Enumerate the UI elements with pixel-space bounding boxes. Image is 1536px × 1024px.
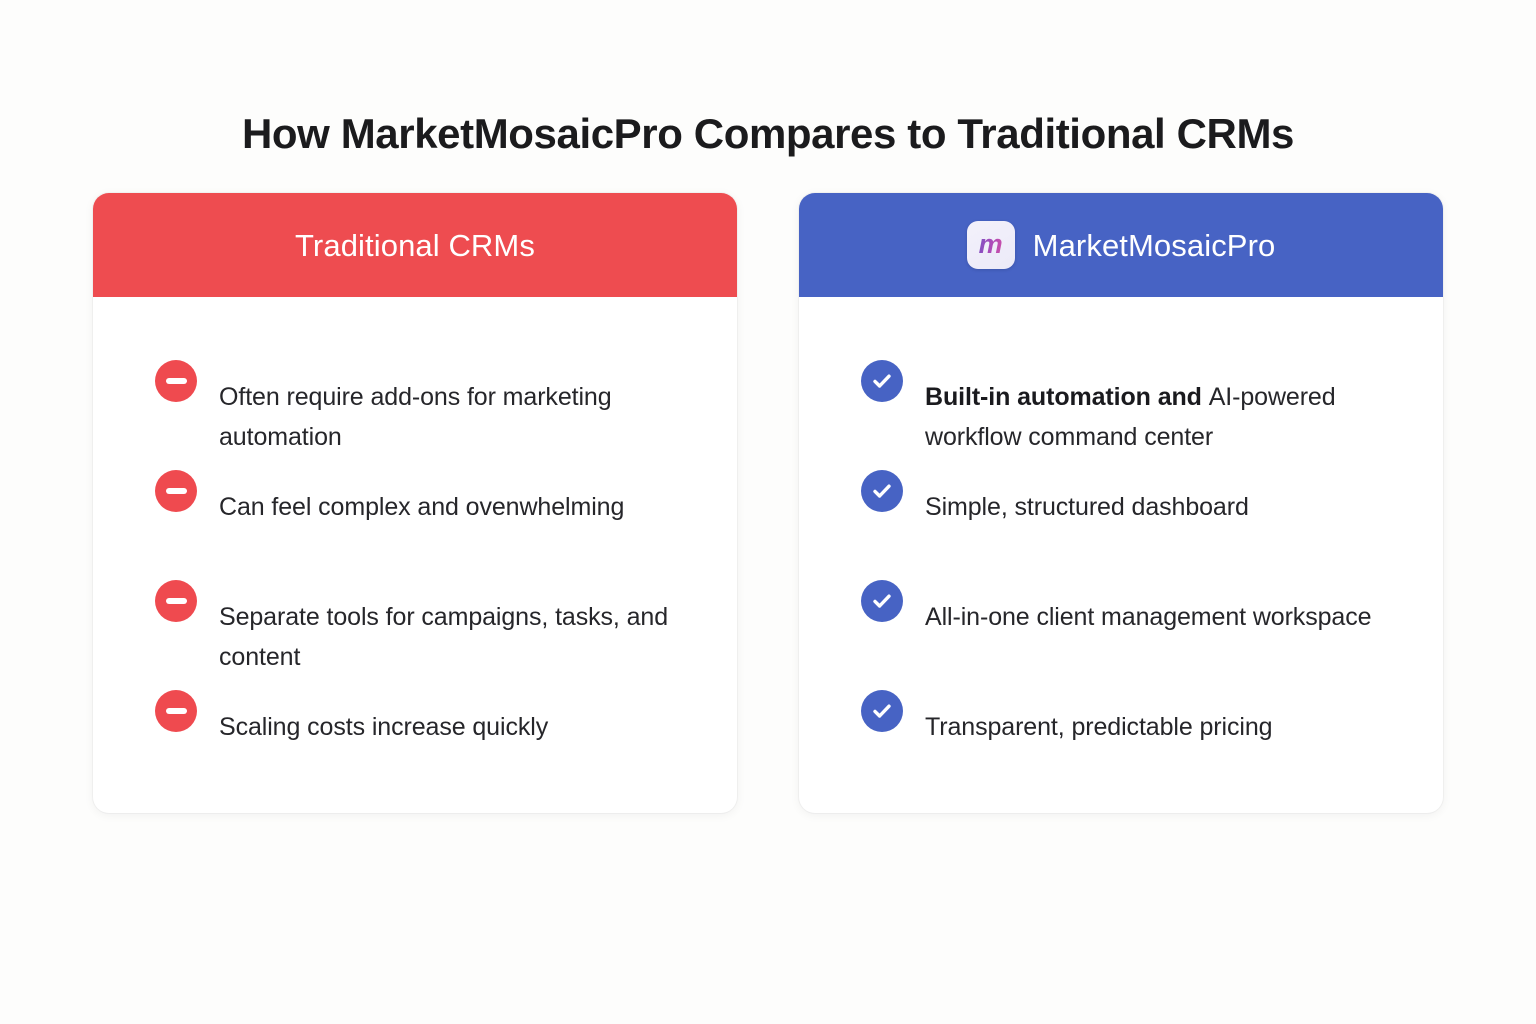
list-item-text: Separate tools for campaigns, tasks, and… bbox=[219, 603, 668, 671]
list-item-label: Often require add-ons for marketing auto… bbox=[219, 378, 703, 457]
list-item-text: Can feel complex and ovenwhelming bbox=[219, 493, 624, 521]
check-circle-icon bbox=[861, 360, 903, 402]
check-circle-icon bbox=[861, 580, 903, 622]
marketmosaicpro-logo-icon: m bbox=[967, 221, 1015, 269]
card-header-marketmosaicpro: m MarketMosaicPro bbox=[799, 193, 1443, 297]
list-item-text-lead: Built-in automation and bbox=[925, 383, 1209, 411]
feature-list-traditional-crms: Often require add-ons for marketing auto… bbox=[93, 297, 737, 813]
list-item: All-in-one client management workspace bbox=[861, 573, 1409, 683]
minus-circle-icon bbox=[155, 690, 197, 732]
minus-circle-icon bbox=[155, 580, 197, 622]
card-header-title: MarketMosaicPro bbox=[1033, 230, 1276, 261]
list-item-label: Built-in automation and AI-powered workf… bbox=[925, 378, 1409, 457]
list-item: Transparent, predictable pricing bbox=[861, 683, 1409, 793]
list-item: Built-in automation and AI-powered workf… bbox=[861, 353, 1409, 463]
list-item-text: All-in-one client management workspace bbox=[925, 603, 1371, 631]
list-item-label: Separate tools for campaigns, tasks, and… bbox=[219, 598, 703, 677]
list-item-text: Often require add-ons for marketing auto… bbox=[219, 383, 612, 451]
minus-circle-icon bbox=[155, 470, 197, 512]
list-item: Can feel complex and ovenwhelming bbox=[155, 463, 703, 573]
card-header-traditional-crms: Traditional CRMs bbox=[93, 193, 737, 297]
list-item-text: Transparent, predictable pricing bbox=[925, 713, 1272, 741]
list-item-text: Simple, structured dashboard bbox=[925, 493, 1249, 521]
page-title: How MarketMosaicPro Compares to Traditio… bbox=[0, 110, 1536, 158]
list-item-label: Simple, structured dashboard bbox=[925, 488, 1249, 528]
list-item: Scaling costs increase quickly bbox=[155, 683, 703, 793]
list-item-text: Scaling costs increase quickly bbox=[219, 713, 548, 741]
list-item-label: All-in-one client management workspace bbox=[925, 598, 1371, 638]
comparison-table: Traditional CRMs Often require add-ons f… bbox=[93, 193, 1443, 813]
list-item: Separate tools for campaigns, tasks, and… bbox=[155, 573, 703, 683]
comparison-card-marketmosaicpro: m MarketMosaicPro Built-in automation an… bbox=[799, 193, 1443, 813]
list-item-label: Scaling costs increase quickly bbox=[219, 708, 548, 748]
comparison-card-traditional-crms: Traditional CRMs Often require add-ons f… bbox=[93, 193, 737, 813]
list-item-label: Can feel complex and ovenwhelming bbox=[219, 488, 624, 528]
minus-circle-icon bbox=[155, 360, 197, 402]
list-item-label: Transparent, predictable pricing bbox=[925, 708, 1272, 748]
logo-letter: m bbox=[979, 231, 1003, 260]
list-item: Often require add-ons for marketing auto… bbox=[155, 353, 703, 463]
list-item: Simple, structured dashboard bbox=[861, 463, 1409, 573]
feature-list-marketmosaicpro: Built-in automation and AI-powered workf… bbox=[799, 297, 1443, 813]
card-header-title: Traditional CRMs bbox=[295, 230, 535, 261]
check-circle-icon bbox=[861, 470, 903, 512]
check-circle-icon bbox=[861, 690, 903, 732]
